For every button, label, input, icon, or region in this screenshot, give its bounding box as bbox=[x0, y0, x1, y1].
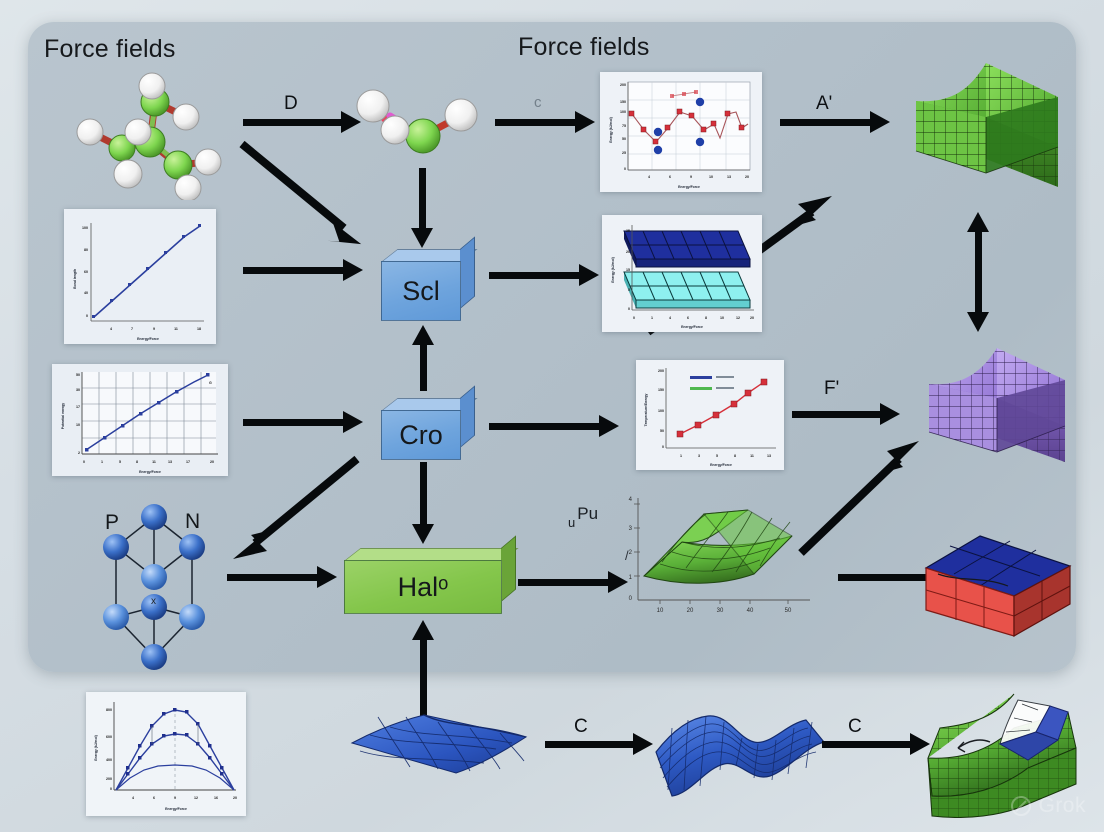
chart-linear-2: 503017 102 015 81113 1720 Energy/Force P… bbox=[52, 364, 228, 476]
node-scl-side bbox=[460, 236, 475, 309]
arrow-plot-to-green-solid bbox=[780, 110, 890, 134]
svg-text:4: 4 bbox=[648, 175, 650, 179]
svg-text:12: 12 bbox=[194, 796, 198, 800]
purple-valley-solid bbox=[905, 340, 1075, 478]
svg-text:30: 30 bbox=[717, 608, 724, 614]
svg-text:50: 50 bbox=[76, 373, 80, 377]
svg-text:9: 9 bbox=[153, 327, 155, 331]
arrow-plot-to-purple-solid bbox=[792, 402, 900, 426]
svg-text:1: 1 bbox=[680, 454, 682, 458]
svg-text:10: 10 bbox=[76, 423, 80, 427]
svg-text:3: 3 bbox=[698, 454, 700, 458]
svg-text:0: 0 bbox=[110, 787, 112, 791]
svg-text:40: 40 bbox=[747, 608, 754, 614]
arrow-chart1-to-scl bbox=[243, 258, 363, 282]
svg-text:4: 4 bbox=[110, 327, 112, 331]
svg-text:5: 5 bbox=[716, 454, 718, 458]
svg-text:0: 0 bbox=[86, 314, 88, 318]
svg-text:13: 13 bbox=[767, 454, 771, 458]
arrow-cro-to-hal bbox=[411, 462, 435, 544]
node-hal-label: Halᵒ bbox=[344, 560, 502, 614]
svg-text:4: 4 bbox=[629, 497, 633, 503]
arrow-label-step-1: C bbox=[574, 716, 588, 738]
page-title-right: Force fields bbox=[518, 33, 650, 62]
svg-text:6: 6 bbox=[687, 316, 689, 320]
arrow-mol-to-plot bbox=[495, 110, 595, 134]
arrow-label-purple-solid: F' bbox=[824, 378, 839, 400]
svg-text:0: 0 bbox=[83, 460, 85, 464]
arrow-label-green-solid: A' bbox=[816, 93, 832, 115]
svg-text:25: 25 bbox=[622, 151, 626, 155]
svg-text:12: 12 bbox=[736, 316, 740, 320]
svg-text:16: 16 bbox=[214, 796, 218, 800]
svg-text:8: 8 bbox=[734, 454, 736, 458]
arrow-surface-step-2 bbox=[822, 732, 930, 756]
arrow-surface-step-1 bbox=[545, 732, 653, 756]
svg-text:1: 1 bbox=[651, 316, 653, 320]
svg-text:13: 13 bbox=[727, 175, 731, 179]
svg-text:2: 2 bbox=[629, 550, 633, 556]
svg-text:10: 10 bbox=[709, 175, 713, 179]
node-hal-side bbox=[501, 535, 516, 602]
svg-text:200: 200 bbox=[658, 369, 664, 373]
svg-text:Temperature/Energy: Temperature/Energy bbox=[644, 394, 648, 427]
svg-text:Energy/Force: Energy/Force bbox=[139, 470, 161, 474]
node-cro[interactable]: Cro bbox=[381, 398, 475, 460]
chart-red-line-legend: 200150100 500 135 81113 Energy/Force Tem… bbox=[636, 360, 784, 470]
svg-text:80: 80 bbox=[84, 248, 88, 252]
svg-text:6: 6 bbox=[153, 796, 155, 800]
arrow-label-mol-to-mol: D bbox=[284, 93, 298, 115]
svg-text:200: 200 bbox=[106, 777, 112, 781]
svg-text:Energy/Force: Energy/Force bbox=[710, 463, 732, 467]
svg-text:Energy/Force: Energy/Force bbox=[165, 807, 187, 811]
lattice-label-x: x bbox=[151, 596, 156, 607]
svg-text:11: 11 bbox=[152, 460, 156, 464]
node-scl[interactable]: Scl bbox=[381, 249, 475, 321]
node-scl-label: Scl bbox=[381, 261, 461, 321]
svg-text:5: 5 bbox=[628, 288, 630, 292]
svg-text:0: 0 bbox=[629, 596, 633, 602]
svg-text:0: 0 bbox=[624, 167, 626, 171]
svg-text:20: 20 bbox=[210, 460, 214, 464]
svg-text:10: 10 bbox=[720, 316, 724, 320]
chart-scatter-line: 200150100 7550250 469 101320 Energy/Forc… bbox=[600, 72, 762, 192]
svg-text:30: 30 bbox=[76, 388, 80, 392]
arrow-label-mol-to-plot: c bbox=[534, 94, 542, 111]
svg-text:G: G bbox=[209, 381, 212, 385]
blue-red-layered-solid bbox=[918, 530, 1078, 650]
molecule-small bbox=[335, 88, 485, 168]
svg-text:1: 1 bbox=[101, 460, 103, 464]
svg-text:0: 0 bbox=[628, 307, 630, 311]
arrow-cro-to-scl bbox=[411, 325, 435, 391]
pu-annotation-sub: u bbox=[568, 515, 575, 530]
svg-text:3: 3 bbox=[629, 526, 633, 532]
svg-text:Energy (kJ/mol): Energy (kJ/mol) bbox=[609, 117, 613, 142]
arrow-label-step-2: C bbox=[848, 716, 862, 738]
svg-text:800: 800 bbox=[106, 708, 112, 712]
svg-text:8: 8 bbox=[136, 460, 138, 464]
svg-text:Energy/Force: Energy/Force bbox=[678, 185, 700, 189]
svg-text:25: 25 bbox=[626, 229, 630, 233]
pu-annotation-main: Pu bbox=[577, 504, 598, 523]
watermark: Grok bbox=[1010, 794, 1086, 818]
svg-text:10: 10 bbox=[657, 608, 664, 614]
svg-text:17: 17 bbox=[186, 460, 190, 464]
svg-text:50: 50 bbox=[622, 137, 626, 141]
blue-wave-surface bbox=[648, 690, 838, 808]
node-cro-side bbox=[460, 385, 475, 448]
lattice-label-n: N bbox=[185, 510, 200, 534]
svg-text:Energy (kJ/mol): Energy (kJ/mol) bbox=[94, 735, 98, 760]
watermark-text: Grok bbox=[1038, 794, 1086, 818]
chart-linear-1: 1008060 400 479 1118 Energy/Force Bond l… bbox=[64, 209, 216, 344]
svg-text:Potential energy: Potential energy bbox=[61, 403, 65, 429]
grok-logo-icon bbox=[1010, 795, 1032, 817]
svg-text:11: 11 bbox=[750, 454, 754, 458]
arrow-lattice-to-hal bbox=[227, 565, 337, 589]
node-hal[interactable]: Halᵒ bbox=[344, 548, 516, 614]
svg-text:100: 100 bbox=[620, 110, 626, 114]
svg-text:Bond length: Bond length bbox=[73, 269, 77, 289]
svg-text:7: 7 bbox=[131, 327, 133, 331]
chart-3dbars: 252015 50 014 6810 1220 Energy/Force Ene… bbox=[602, 215, 762, 332]
svg-text:40: 40 bbox=[84, 291, 88, 295]
molecule-large bbox=[60, 70, 240, 200]
svg-text:150: 150 bbox=[658, 388, 664, 392]
arrow-mol-to-scl-vertical bbox=[410, 168, 434, 248]
svg-text:13: 13 bbox=[168, 460, 172, 464]
svg-text:11: 11 bbox=[174, 327, 178, 331]
svg-text:Energy (kJ/mol): Energy (kJ/mol) bbox=[611, 257, 615, 282]
svg-text:9: 9 bbox=[174, 796, 176, 800]
svg-text:20: 20 bbox=[745, 175, 749, 179]
svg-text:0: 0 bbox=[633, 316, 635, 320]
svg-text:8: 8 bbox=[705, 316, 707, 320]
chart-green-surface: 43210 102030 4050 bbox=[620, 490, 820, 640]
arrow-chart2-to-cro bbox=[243, 410, 363, 434]
svg-text:100: 100 bbox=[82, 226, 88, 230]
svg-text:60: 60 bbox=[84, 270, 88, 274]
svg-text:50: 50 bbox=[785, 608, 792, 614]
svg-text:75: 75 bbox=[622, 124, 626, 128]
svg-text:20: 20 bbox=[233, 796, 237, 800]
svg-text:600: 600 bbox=[106, 735, 112, 739]
svg-text:100: 100 bbox=[658, 409, 664, 413]
svg-text:Energy/Force: Energy/Force bbox=[137, 337, 159, 341]
svg-text:2: 2 bbox=[78, 451, 80, 455]
svg-text:0: 0 bbox=[662, 445, 664, 449]
svg-text:20: 20 bbox=[750, 316, 754, 320]
lattice-label-p: P bbox=[105, 511, 119, 535]
node-cro-label: Cro bbox=[381, 410, 461, 460]
svg-text:Energy/Force: Energy/Force bbox=[681, 325, 703, 329]
svg-text:1: 1 bbox=[629, 575, 633, 581]
svg-text:4: 4 bbox=[669, 316, 671, 320]
arrow-green-purple-double bbox=[965, 212, 991, 332]
svg-text:17: 17 bbox=[76, 405, 80, 409]
chart-bell-curves: 800600400 2000 469 121620 Energy/Force E… bbox=[86, 692, 246, 816]
green-valley-solid bbox=[890, 55, 1068, 205]
svg-text:5: 5 bbox=[119, 460, 121, 464]
pu-annotation: uPu bbox=[568, 512, 596, 532]
svg-text:18: 18 bbox=[197, 327, 201, 331]
arrow-scl-to-bars bbox=[489, 263, 599, 287]
blue-flat-surface bbox=[348, 705, 548, 785]
svg-text:200: 200 bbox=[620, 83, 626, 87]
svg-text:9: 9 bbox=[690, 175, 692, 179]
page-title-left: Force fields bbox=[44, 35, 176, 64]
svg-text:20: 20 bbox=[687, 608, 694, 614]
arrow-hal-to-surface bbox=[518, 570, 628, 594]
svg-text:20: 20 bbox=[626, 250, 630, 254]
svg-text:6: 6 bbox=[669, 175, 671, 179]
svg-text:15: 15 bbox=[626, 268, 630, 272]
svg-text:50: 50 bbox=[660, 429, 664, 433]
arrow-cro-to-redchart bbox=[489, 414, 619, 438]
svg-text:4: 4 bbox=[132, 796, 134, 800]
svg-text:150: 150 bbox=[620, 100, 626, 104]
svg-text:400: 400 bbox=[106, 758, 112, 762]
